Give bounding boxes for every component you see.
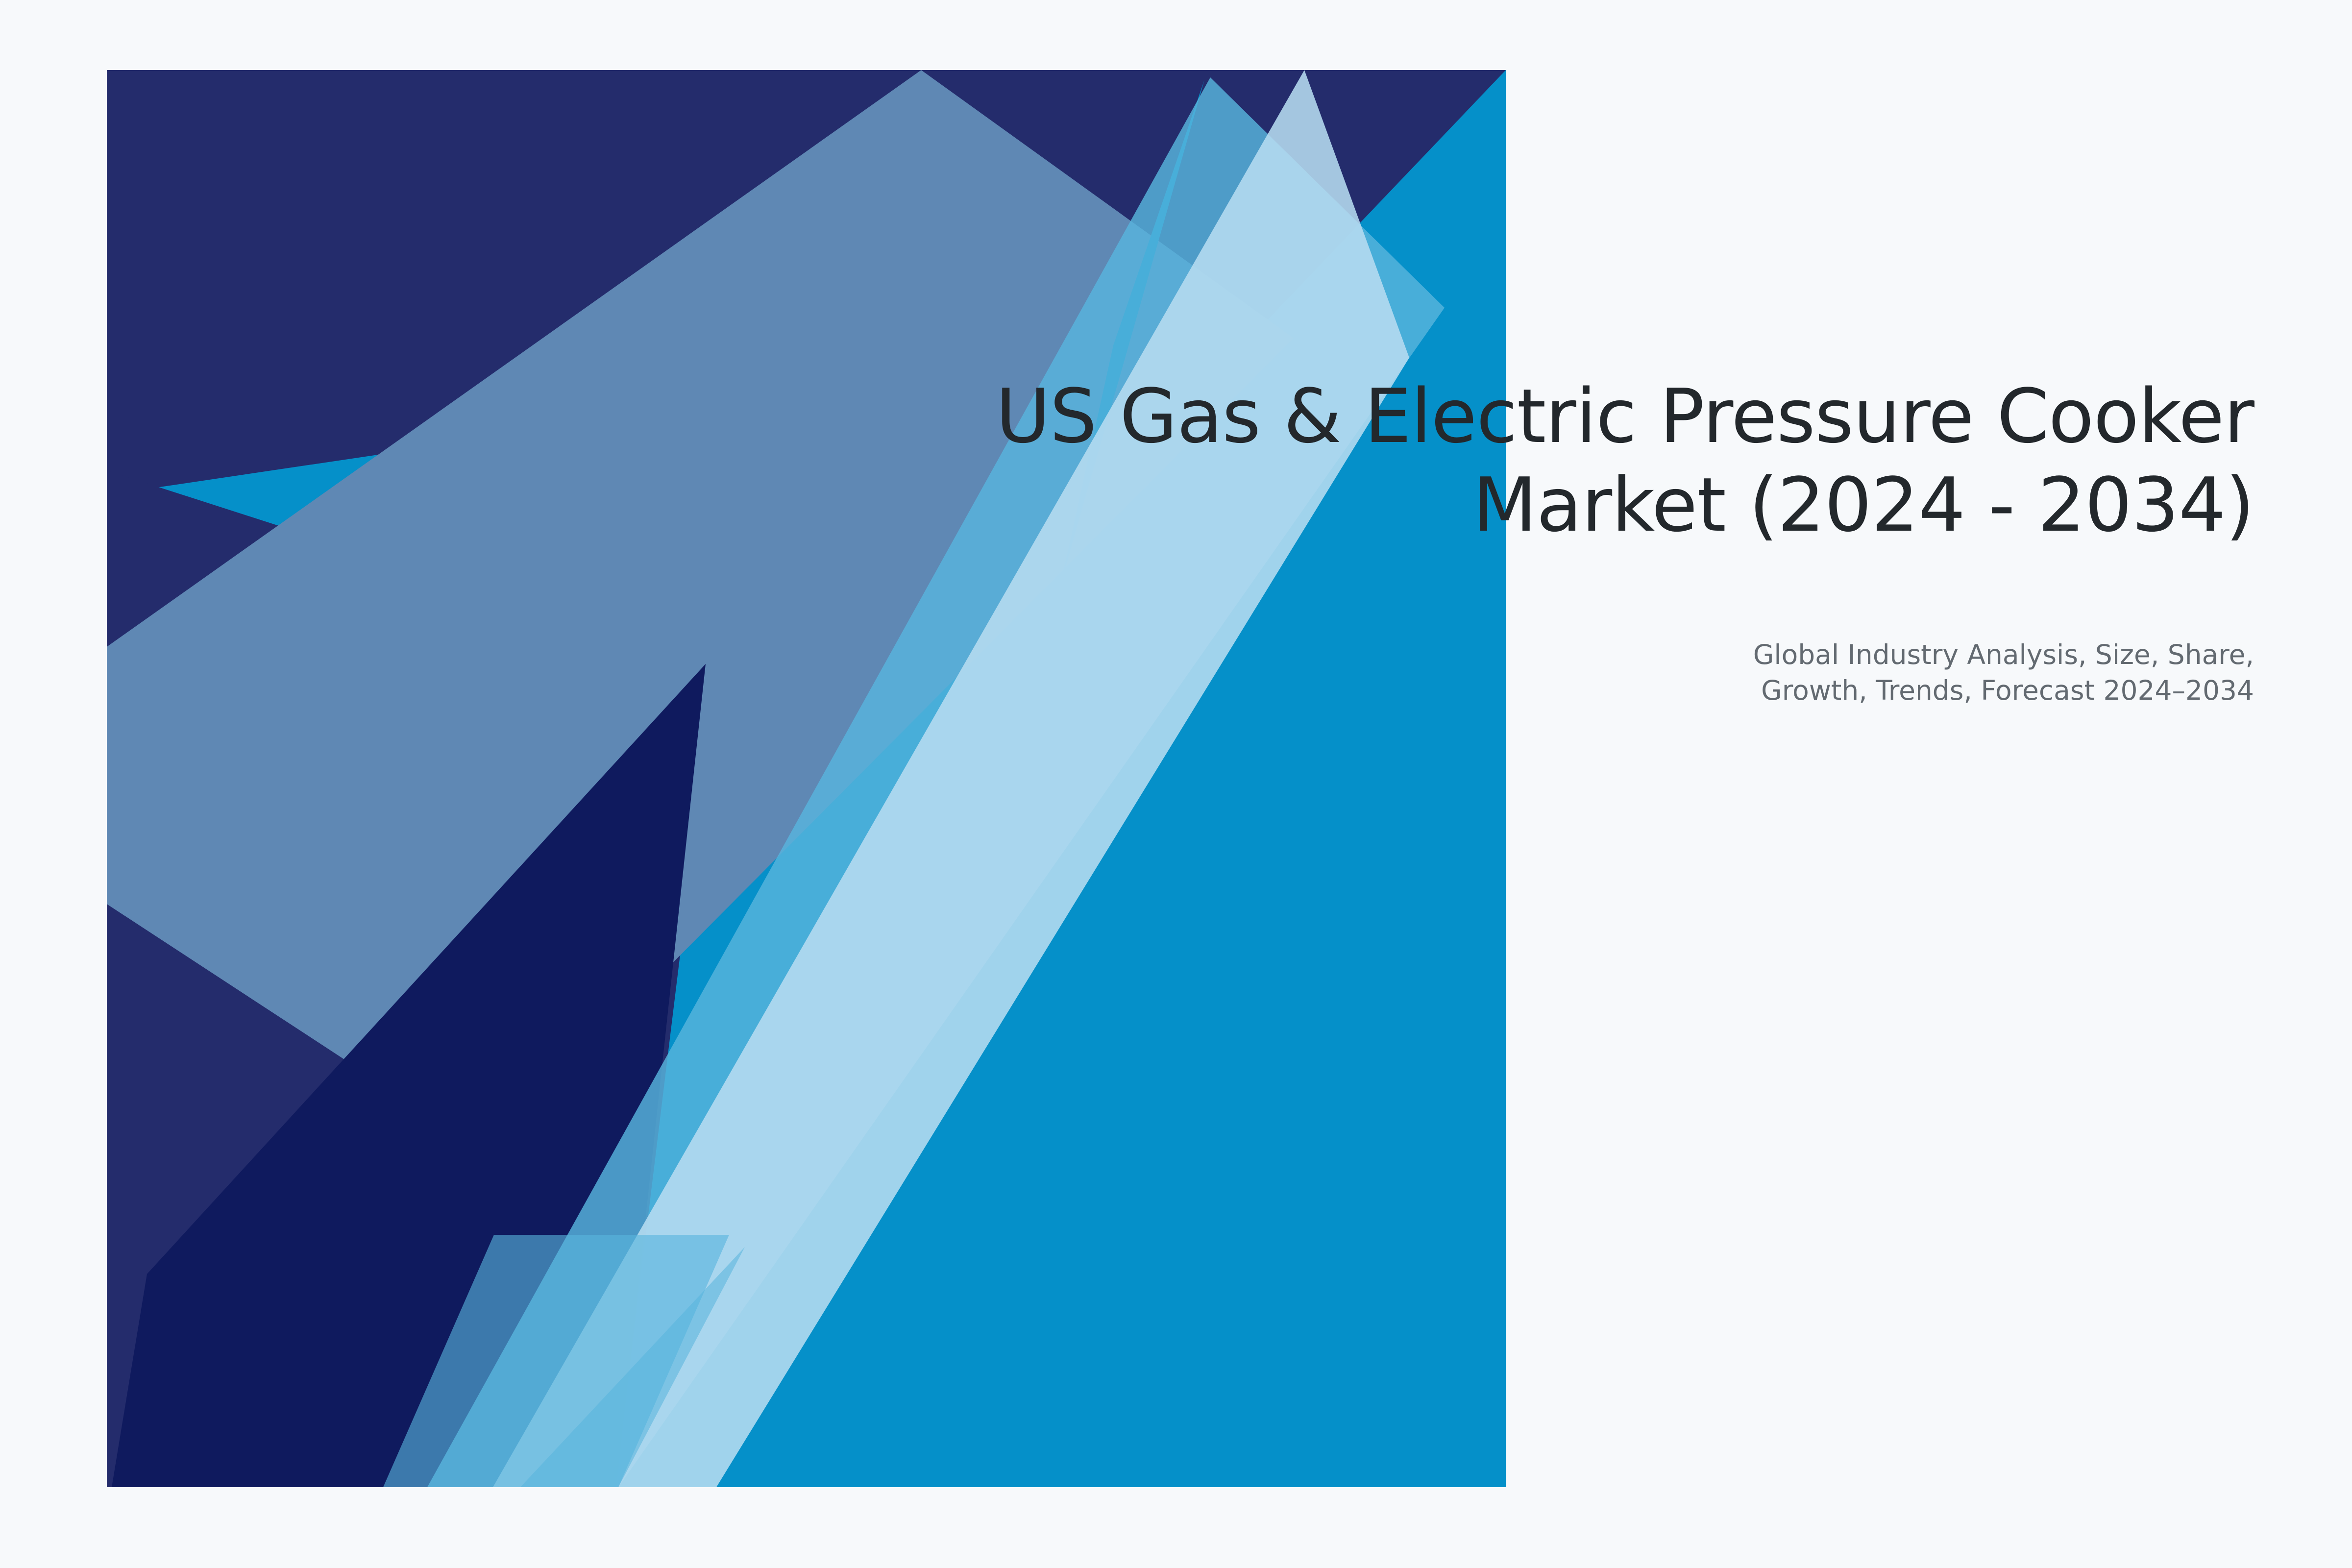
title-wrapper: US Gas & Electric Pressure Cooker Market… <box>931 372 2254 550</box>
page-subtitle: Global Industry Analysis, Size, Share, G… <box>931 550 2254 709</box>
report-cover: US Gas & Electric Pressure Cooker Market… <box>0 0 2352 1568</box>
page-title: US Gas & Electric Pressure Cooker Market… <box>931 372 2254 550</box>
abstract-geometric-banner <box>0 0 2352 1568</box>
cover-text-block: US Gas & Electric Pressure Cooker Market… <box>931 372 2254 709</box>
